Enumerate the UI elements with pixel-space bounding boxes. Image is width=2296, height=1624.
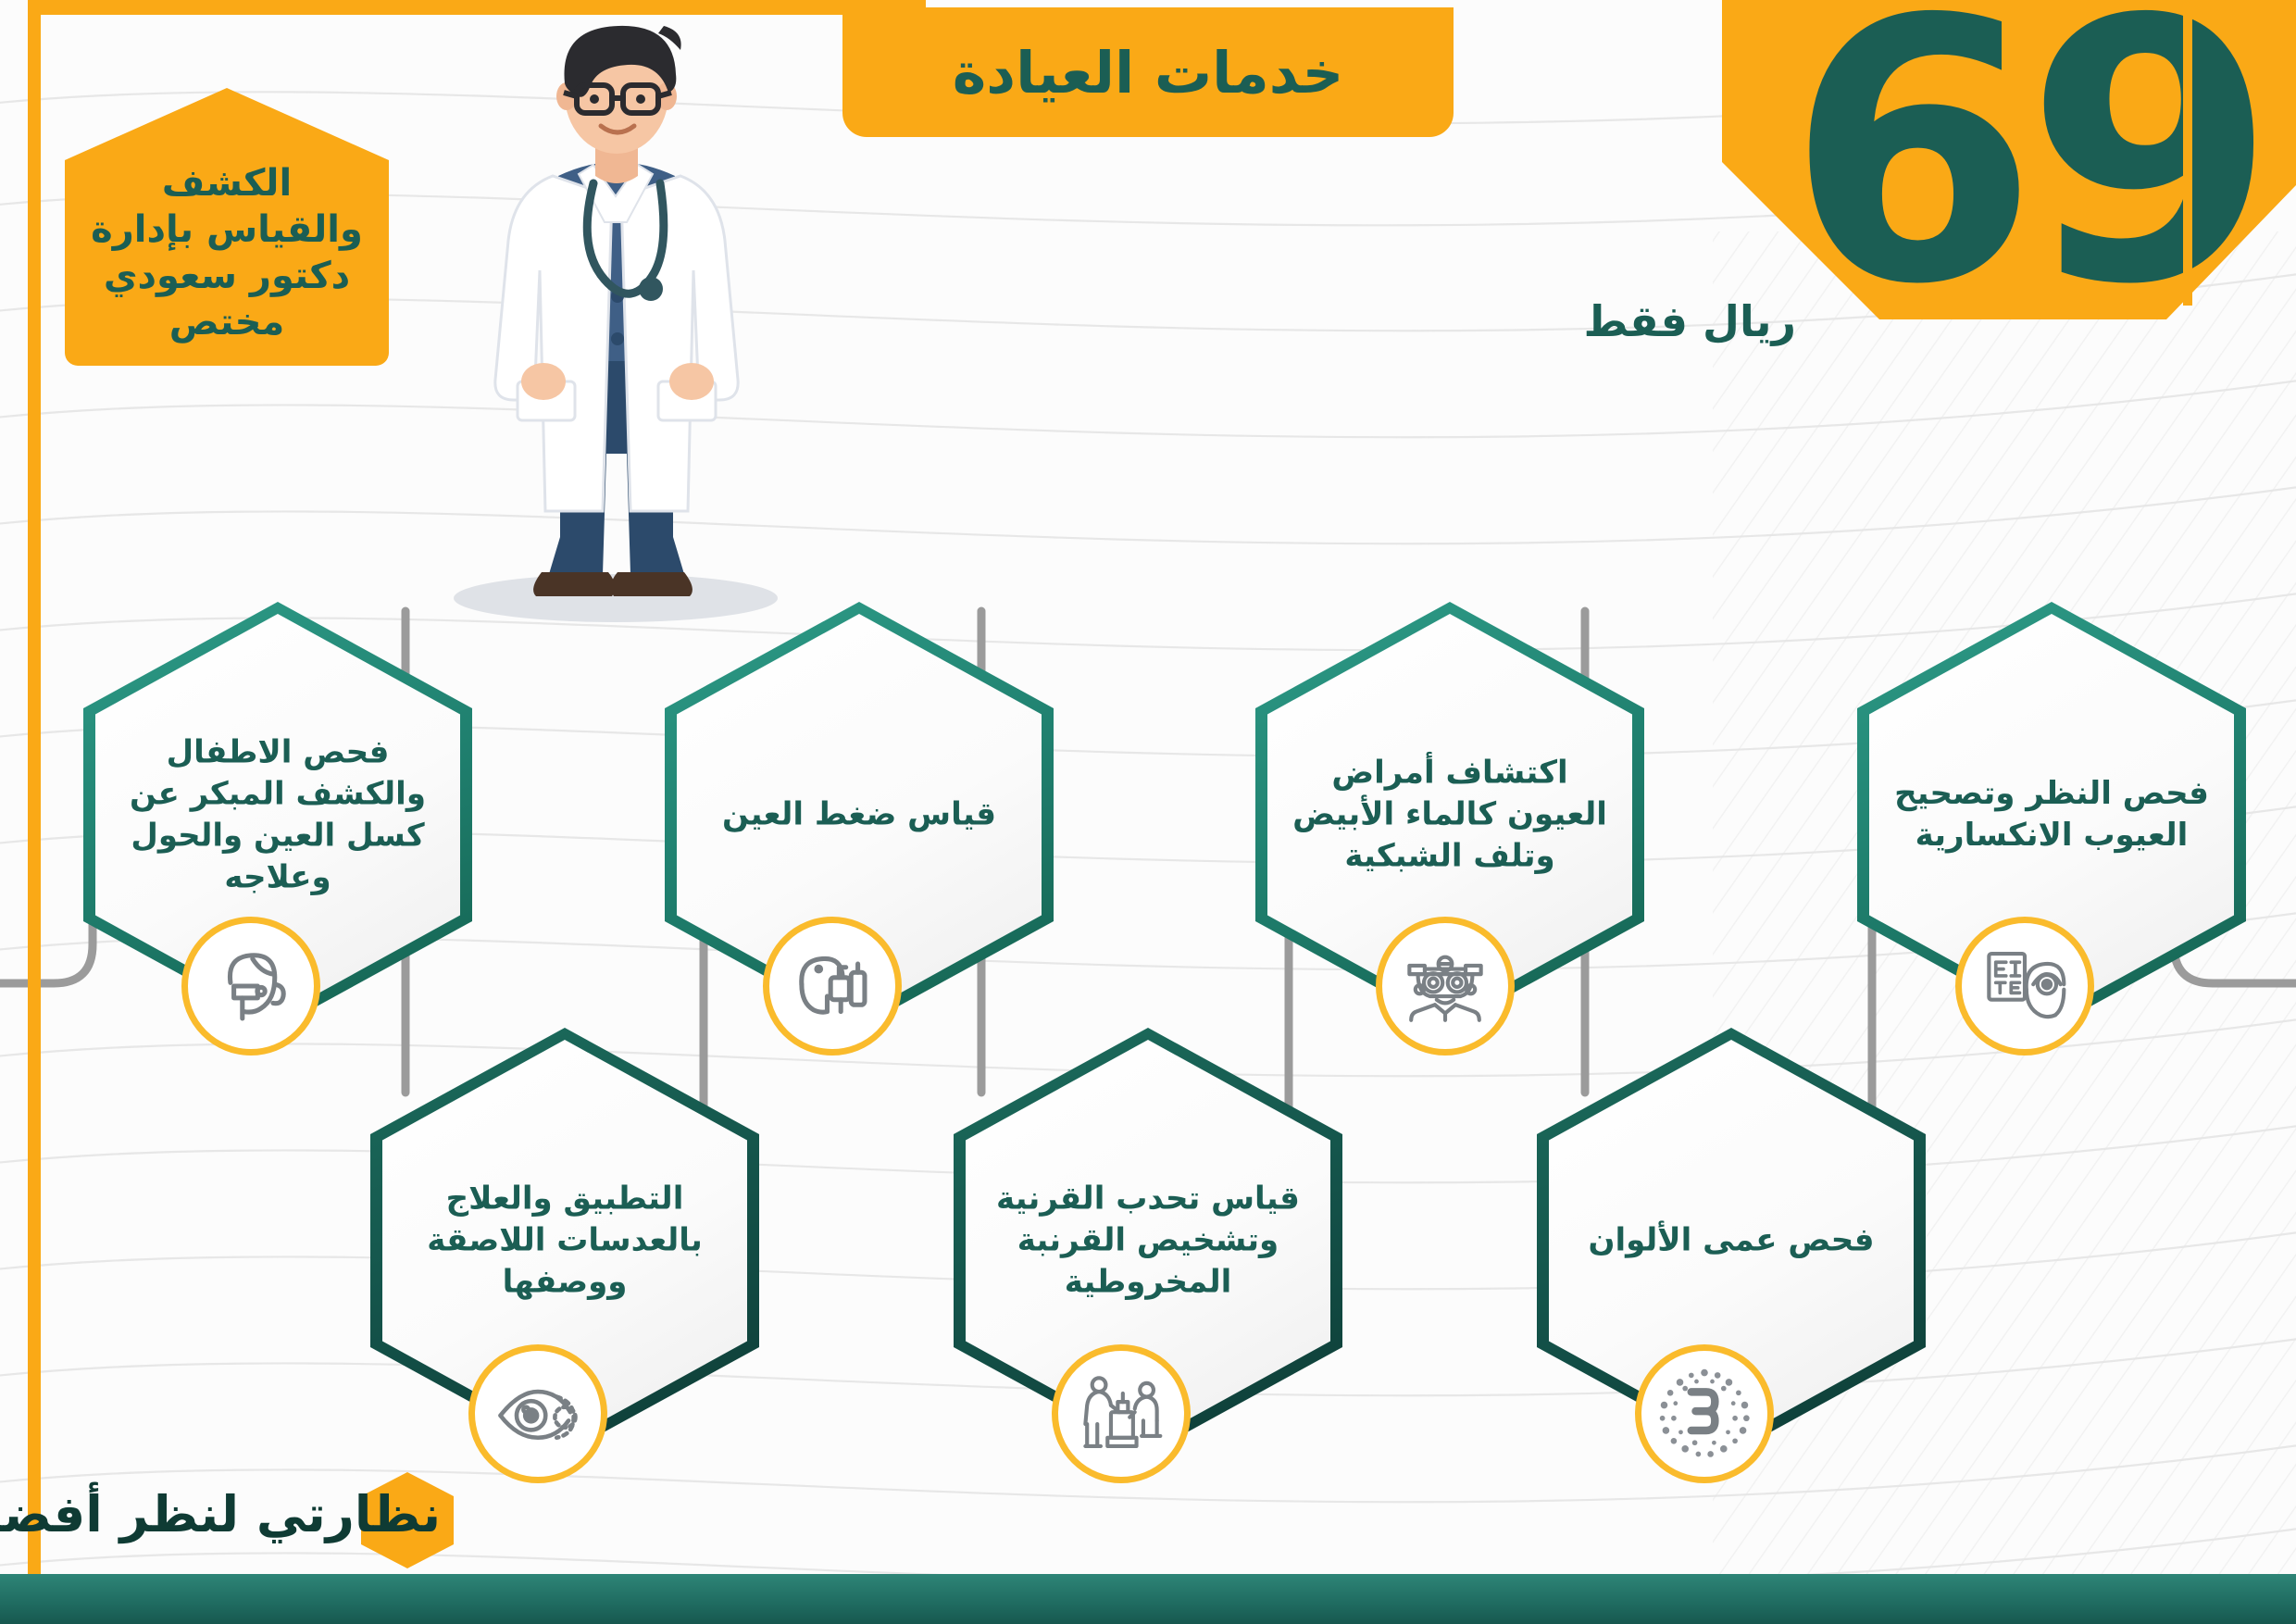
service-label: التطبيق والعلاج بالعدسات اللاصقة ووصفها — [407, 1179, 722, 1304]
ishihara-plate-icon — [1635, 1344, 1774, 1483]
page-title-banner: خدمات العيادة — [842, 7, 1454, 137]
service-label: اكتشاف أمراض العيون كالماء الأبيض وتلف ا… — [1292, 753, 1607, 878]
phoropter-icon — [1376, 917, 1515, 1056]
price-banner-divider — [2183, 0, 2192, 306]
bottom-teal-bar — [0, 1574, 2296, 1624]
slit-lamp-exam-icon — [1052, 1344, 1191, 1483]
top-orange-strip — [28, 0, 926, 15]
service-label: فحص عمى الألوان — [1574, 1220, 1889, 1262]
doctor-illustration — [421, 19, 810, 630]
price-unit-label: ريال فقط — [1584, 296, 1796, 346]
brand-logo-text: نظارتي لنظر أفضل — [0, 1485, 441, 1543]
service-label: فحص الاطفال والكشف المبكر عن كسل العين و… — [120, 731, 435, 898]
infographic-canvas: 69 ريال فقط خدمات العيادة — [0, 0, 2296, 1624]
left-accent-bar — [28, 0, 41, 1574]
callout-badge: الكشف والقياس بإدارة دكتور سعودي مختص — [65, 88, 389, 366]
service-label: قياس ضغط العين — [702, 794, 1017, 836]
service-label: قياس تحدب القرنية وتشخيص القرنبة المخروط… — [991, 1179, 1305, 1304]
brand-logo: نظارتي لنظر أفضل — [65, 1470, 454, 1570]
service-label: فحص النظر وتصحيح العيوب الانكسارية — [1894, 773, 2209, 856]
eye-chart-icon — [1955, 917, 2094, 1056]
contact-lens-eye-icon — [468, 1344, 607, 1483]
tonometer-head-icon — [763, 917, 902, 1056]
child-eye-occluder-icon — [181, 917, 320, 1056]
callout-text: الكشف والقياس بإدارة دكتور سعودي مختص — [65, 160, 389, 345]
page-title: خدمات العيادة — [953, 39, 1344, 106]
